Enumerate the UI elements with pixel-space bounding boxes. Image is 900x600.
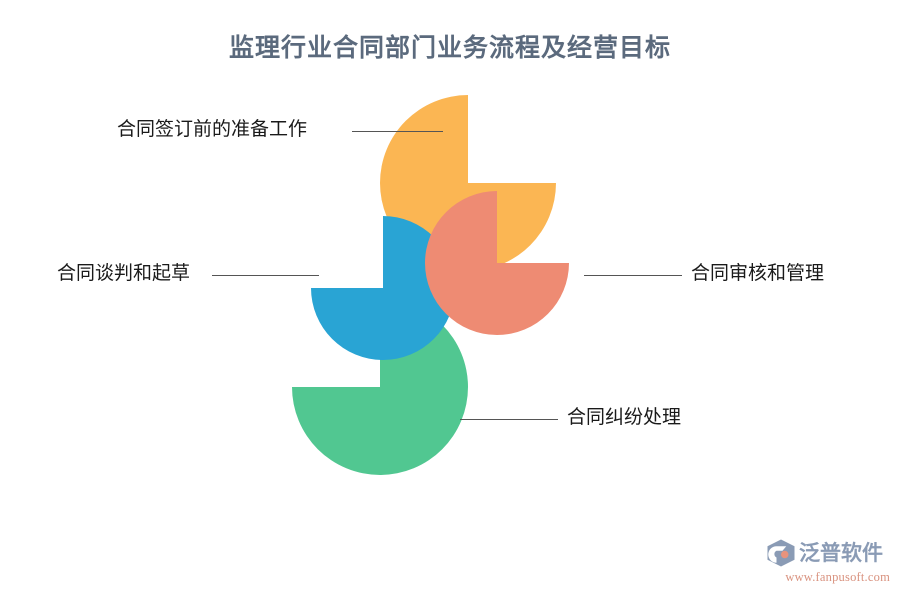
infographic-canvas: 监理行业合同部门业务流程及经营目标 合同签订前的准备工作 合同谈判和起草 合同审… xyxy=(0,0,900,600)
fanpu-logo-icon xyxy=(766,538,796,568)
watermark-brand: 泛普软件 xyxy=(799,543,883,564)
callout-label-dispute: 合同纠纷处理 xyxy=(567,408,681,427)
leader-line-negotiation xyxy=(212,275,319,276)
pinwheel-diagram xyxy=(0,0,900,600)
leader-line-review xyxy=(584,275,682,276)
leader-line-prep xyxy=(352,131,443,132)
watermark: 泛普软件 www.fanpusoft.com xyxy=(766,538,890,590)
leader-line-dispute xyxy=(460,419,558,420)
watermark-url: www.fanpusoft.com xyxy=(766,570,890,585)
watermark-row: 泛普软件 xyxy=(766,538,890,568)
callout-label-review: 合同审核和管理 xyxy=(691,264,824,283)
callout-label-negotiation: 合同谈判和起草 xyxy=(57,264,190,283)
callout-label-prep: 合同签订前的准备工作 xyxy=(117,120,307,139)
